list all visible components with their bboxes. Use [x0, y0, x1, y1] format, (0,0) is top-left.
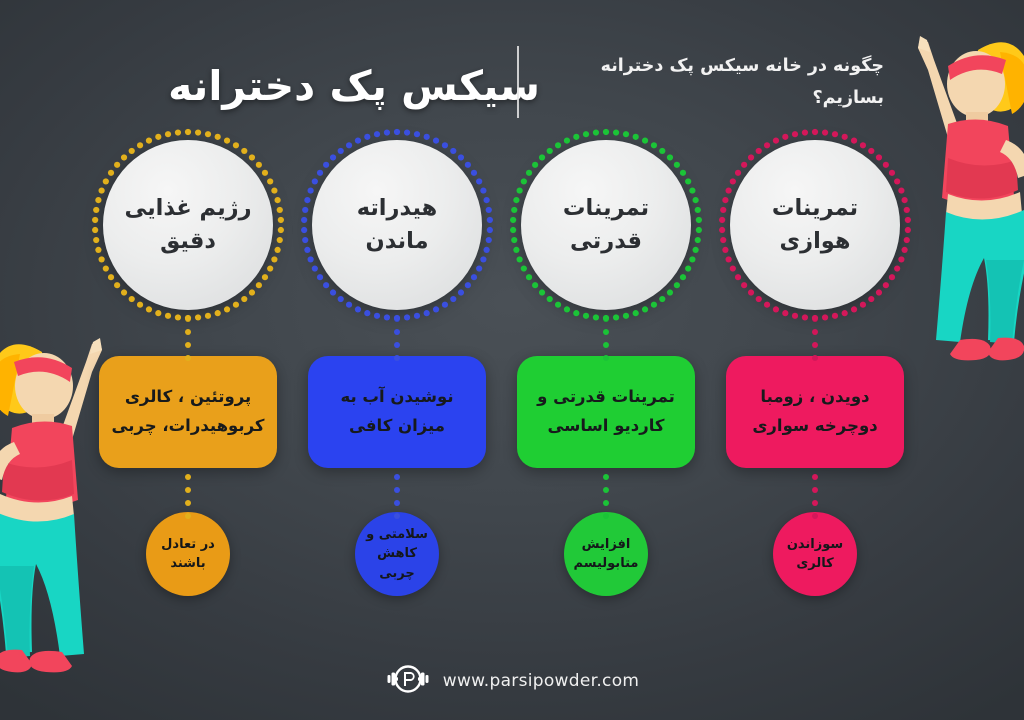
connector-dots-top	[185, 310, 191, 356]
connector-dot	[603, 500, 609, 506]
connector-dots-bottom	[394, 468, 400, 512]
connector-dot	[394, 316, 400, 322]
outcome-circle[interactable]: در تعادل باشند	[146, 512, 230, 596]
connector-dot	[812, 487, 818, 493]
column-hydration: هیدراته ماندن نوشیدن آب به میزان کافی سل…	[297, 140, 497, 596]
outcome-circle[interactable]: سلامتی و کاهش چربی	[355, 512, 439, 596]
outcome-circle-label: در تعادل باشند	[146, 535, 230, 574]
column-aerobic: تمرینات هوازی دویدن ، زومبا دوچرخه سواری…	[715, 140, 915, 596]
connector-dot	[603, 342, 609, 348]
parsipowder-dumbbell-logo-icon	[385, 664, 431, 698]
connector-dots-top	[812, 310, 818, 356]
connector-dot	[394, 513, 400, 519]
footer-url-label: www.parsipowder.com	[443, 671, 640, 691]
connector-dot	[812, 316, 818, 322]
connector-dot	[812, 329, 818, 335]
connector-dot	[394, 329, 400, 335]
connector-dots-bottom	[812, 468, 818, 512]
connector-dot	[394, 500, 400, 506]
topic-circle-label: رژیم غذایی دقیق	[103, 192, 273, 257]
detail-box-label: نوشیدن آب به میزان کافی	[308, 377, 486, 447]
connector-dot	[812, 513, 818, 519]
connector-dot	[603, 316, 609, 322]
header: سیکس پک دخترانه چگونه در خانه سیکس پک دخ…	[0, 28, 1024, 128]
infographic-canvas: سیکس پک دخترانه چگونه در خانه سیکس پک دخ…	[0, 0, 1024, 720]
connector-dot	[185, 316, 191, 322]
connector-dot	[185, 487, 191, 493]
connector-dot	[185, 329, 191, 335]
outcome-circle-label: سلامتی و کاهش چربی	[355, 525, 439, 584]
detail-box-label: دویدن ، زومبا دوچرخه سواری	[726, 377, 904, 447]
connector-dot	[394, 342, 400, 348]
connector-dot	[185, 474, 191, 480]
outcome-circle-label: افزایش متابولیسم	[564, 535, 648, 574]
connector-dot	[185, 500, 191, 506]
detail-box[interactable]: نوشیدن آب به میزان کافی	[308, 356, 486, 468]
connector-dots-top	[603, 310, 609, 356]
connector-dot	[185, 355, 191, 361]
detail-box-label: پروتئین ، کالری کربوهیدرات، چربی	[99, 377, 277, 447]
footer: www.parsipowder.com	[0, 664, 1024, 698]
connector-dot	[394, 474, 400, 480]
connector-dot	[185, 342, 191, 348]
topic-circle[interactable]: تمرینات هوازی	[730, 140, 900, 310]
connector-dots-bottom	[603, 468, 609, 512]
connector-dot	[185, 513, 191, 519]
connector-dot	[603, 487, 609, 493]
column-diet: رژیم غذایی دقیق پروتئین ، کالری کربوهیدر…	[88, 140, 288, 596]
connector-dot	[812, 474, 818, 480]
topic-circle-label: تمرینات هوازی	[730, 192, 900, 257]
connector-dot	[603, 355, 609, 361]
connector-dot	[603, 474, 609, 480]
detail-box[interactable]: تمرینات قدرتی و کاردیو اساسی	[517, 356, 695, 468]
detail-box[interactable]: دویدن ، زومبا دوچرخه سواری	[726, 356, 904, 468]
title-divider	[517, 46, 519, 118]
connector-dots-bottom	[185, 468, 191, 512]
detail-box[interactable]: پروتئین ، کالری کربوهیدرات، چربی	[99, 356, 277, 468]
connector-dots-top	[394, 310, 400, 356]
column-strength: تمرینات قدرتی تمرینات قدرتی و کاردیو اسا…	[506, 140, 706, 596]
detail-box-label: تمرینات قدرتی و کاردیو اساسی	[517, 377, 695, 447]
outcome-circle[interactable]: افزایش متابولیسم	[564, 512, 648, 596]
topic-circle[interactable]: هیدراته ماندن	[312, 140, 482, 310]
connector-dot	[394, 355, 400, 361]
connector-dot	[603, 329, 609, 335]
topic-circle-label: تمرینات قدرتی	[521, 192, 691, 257]
outcome-circle-label: سوزاندن کالری	[773, 535, 857, 574]
topic-circle-label: هیدراته ماندن	[312, 192, 482, 257]
connector-dot	[394, 487, 400, 493]
topic-circle[interactable]: رژیم غذایی دقیق	[103, 140, 273, 310]
connector-dot	[812, 355, 818, 361]
outcome-circle[interactable]: سوزاندن کالری	[773, 512, 857, 596]
topic-circle[interactable]: تمرینات قدرتی	[521, 140, 691, 310]
connector-dot	[812, 500, 818, 506]
connector-dot	[603, 513, 609, 519]
page-subtitle: چگونه در خانه سیکس پک دخترانه بسازیم؟	[534, 50, 884, 115]
connector-dot	[812, 342, 818, 348]
page-title: سیکس پک دخترانه	[168, 62, 540, 110]
